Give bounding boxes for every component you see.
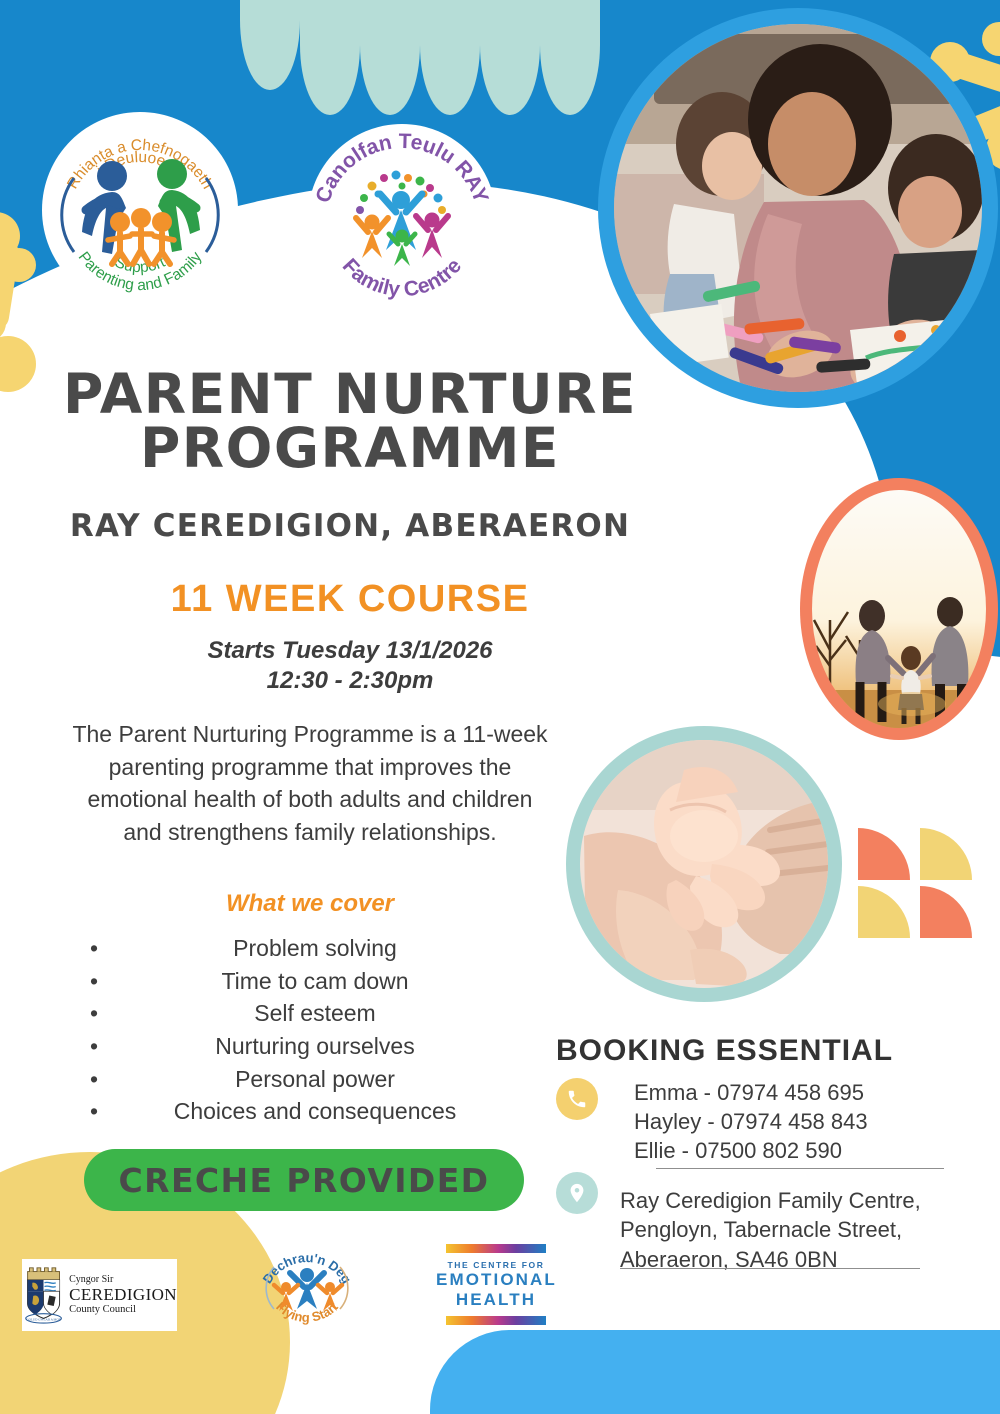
ray-logo-graphic: Canolfan Teulu RAY Family Centre (308, 124, 496, 312)
start-date: Starts Tuesday 13/1/2026 (40, 636, 660, 666)
phone-icon (556, 1078, 598, 1120)
svg-text:GOLUD GWLAD A MOR: GOLUD GWLAD A MOR (26, 1317, 61, 1321)
course-length-banner: 11 WEEK COURSE (40, 578, 660, 621)
ceh-line-1: EMOTIONAL (436, 1270, 556, 1290)
contact-ellie: Ellie - 07500 802 590 (634, 1136, 868, 1165)
start-date-block: Starts Tuesday 13/1/2026 12:30 - 2:30pm (40, 636, 660, 697)
ceredigion-line-1: Cyngor Sir (69, 1274, 177, 1285)
ceh-name: EMOTIONAL HEALTH (436, 1270, 556, 1310)
phone-glyph (566, 1088, 588, 1110)
centre-for-emotional-health-logo: THE CENTRE FOR EMOTIONAL HEALTH (436, 1244, 556, 1326)
address-line-1: Ray Ceredigion Family Centre, (620, 1186, 921, 1215)
what-we-cover-heading: What we cover (70, 890, 550, 918)
ceh-top-gradient-bar (446, 1244, 546, 1253)
flying-start-graphic: Dechrau'n Deg Flying Start (252, 1237, 362, 1337)
mother-children-illustration (614, 24, 982, 392)
family-sunset-illustration (812, 490, 986, 728)
ceredigion-line-3: County Council (69, 1304, 177, 1316)
list-item: Time to cam down (70, 965, 560, 998)
flying-start-logo: Dechrau'n Deg Flying Start (252, 1237, 362, 1337)
page-subtitle: RAY CEREDIGION, ABERAERON (40, 508, 660, 544)
title-line-1: PARENT NURTURE (40, 368, 660, 422)
list-item: Personal power (70, 1063, 560, 1096)
ceredigion-county-council-logo: GOLUD GWLAD A MOR Cyngor Sir CEREDIGION … (22, 1259, 177, 1331)
address-line-3: Aberaeron, SA46 0BN (620, 1245, 921, 1274)
poster-canvas: Rhianta a Chefnogaeth i Deuluoedd Parent… (0, 0, 1000, 1414)
photo-baby-hand-in-adult-hand (566, 726, 842, 1002)
address-line-2: Pengloyn, Tabernacle Street, (620, 1215, 921, 1244)
photo-mother-children-drawing (598, 8, 998, 408)
divider-upper (656, 1168, 944, 1169)
creche-provided-badge: CRECHE PROVIDED (84, 1149, 524, 1211)
contact-phone-list: Emma - 07974 458 695 Hayley - 07974 458 … (634, 1078, 868, 1165)
list-item: Nurturing ourselves (70, 1030, 560, 1063)
page-title: PARENT NURTURE PROGRAMME (40, 368, 660, 476)
ceredigion-logo-text: Cyngor Sir CEREDIGION County Council (65, 1274, 177, 1316)
list-item: Problem solving (70, 932, 560, 965)
what-we-cover-list: Problem solving Time to cam down Self es… (70, 932, 560, 1128)
ceredigion-line-2: CEREDIGION (69, 1285, 177, 1304)
blue-wave-bottom-right (430, 1330, 1000, 1414)
ceh-tagline: THE CENTRE FOR (436, 1260, 556, 1270)
ray-family-centre-logo: Canolfan Teulu RAY Family Centre (308, 124, 496, 312)
list-item: Choices and consequences (70, 1095, 560, 1128)
photo-family-sunset-silhouette (800, 478, 998, 740)
contact-emma: Emma - 07974 458 695 (634, 1078, 868, 1107)
title-line-2: PROGRAMME (40, 422, 660, 476)
venue-address: Ray Ceredigion Family Centre, Pengloyn, … (620, 1186, 921, 1274)
list-item: Self esteem (70, 997, 560, 1030)
ceredigion-crest-icon: GOLUD GWLAD A MOR (22, 1264, 65, 1326)
ceh-bottom-gradient-bar (446, 1316, 546, 1325)
ceh-line-2: HEALTH (436, 1290, 556, 1310)
contact-hayley: Hayley - 07974 458 843 (634, 1107, 868, 1136)
quarter-circle-decoration (858, 828, 988, 958)
divider-lower (620, 1268, 920, 1269)
parenting-logo-graphic: Rhianta a Chefnogaeth i Deuluoedd Parent… (42, 112, 238, 308)
hands-illustration (580, 740, 828, 988)
start-time: 12:30 - 2:30pm (40, 666, 660, 696)
map-pin-icon (556, 1172, 598, 1214)
parenting-family-support-logo: Rhianta a Chefnogaeth i Deuluoedd Parent… (42, 112, 238, 308)
map-pin-glyph (566, 1182, 588, 1204)
booking-essential-heading: BOOKING ESSENTIAL (556, 1034, 893, 1068)
description-paragraph: The Parent Nurturing Programme is a 11-w… (70, 718, 550, 849)
